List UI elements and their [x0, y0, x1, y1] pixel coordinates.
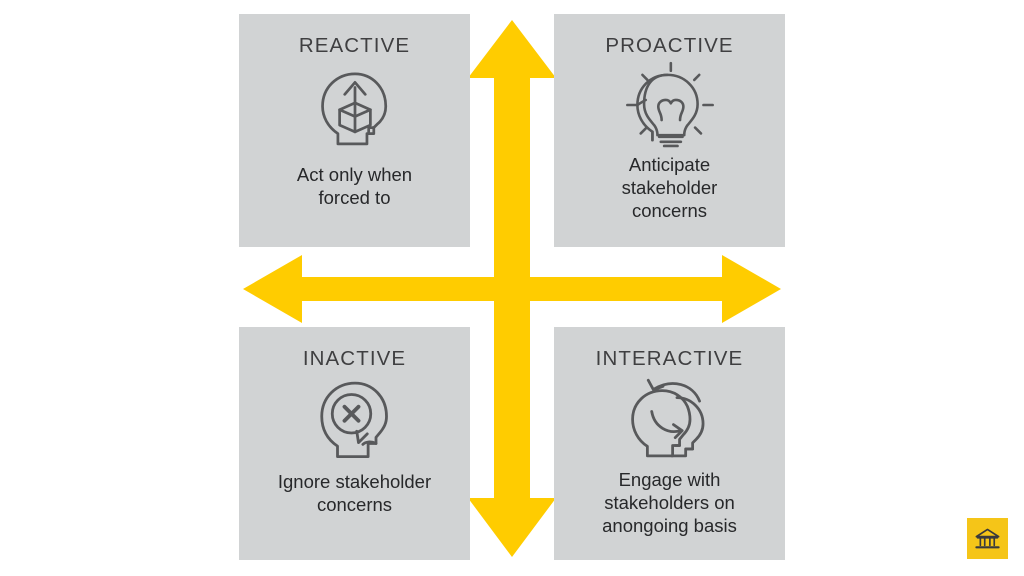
quadrant-description-interactive: Engage with stakeholders on anongoing ba… — [594, 468, 745, 538]
vertical-double-arrow-icon — [468, 20, 556, 557]
slide-canvas: REACTIVE Act only when forced to PROACTI… — [0, 0, 1024, 576]
quadrant-description-inactive: Ignore stakeholder concerns — [270, 470, 439, 517]
quadrant-interactive[interactable]: INTERACTIVE Engage with stakeholders on … — [554, 327, 785, 560]
head-speech-bubble-x-icon — [313, 374, 397, 464]
horizontal-double-arrow-icon — [243, 255, 781, 323]
brand-logo[interactable] — [967, 518, 1008, 559]
quadrant-proactive[interactable]: PROACTIVE — [554, 14, 785, 247]
quadrant-title-reactive: REACTIVE — [299, 36, 410, 57]
quadrant-title-proactive: PROACTIVE — [605, 36, 733, 57]
head-lightbulb-idea-icon — [624, 59, 716, 151]
two-heads-exchange-arrows-icon — [623, 374, 717, 464]
quadrant-reactive[interactable]: REACTIVE Act only when forced to — [239, 14, 470, 247]
quadrant-title-inactive: INACTIVE — [303, 349, 406, 370]
quadrant-description-proactive: Anticipate stakeholder concerns — [614, 153, 726, 223]
quadrant-title-interactive: INTERACTIVE — [596, 349, 744, 370]
axis-arrow-cross — [0, 0, 1024, 576]
head-with-box-and-up-arrow-icon — [314, 65, 396, 151]
quadrant-inactive[interactable]: INACTIVE Ignore stakeholder concerns — [239, 327, 470, 560]
bank-building-icon — [974, 527, 1001, 551]
arrow-center-junction-h — [302, 277, 722, 301]
arrow-center-junction — [494, 265, 530, 313]
quadrant-description-reactive: Act only when forced to — [289, 163, 420, 210]
